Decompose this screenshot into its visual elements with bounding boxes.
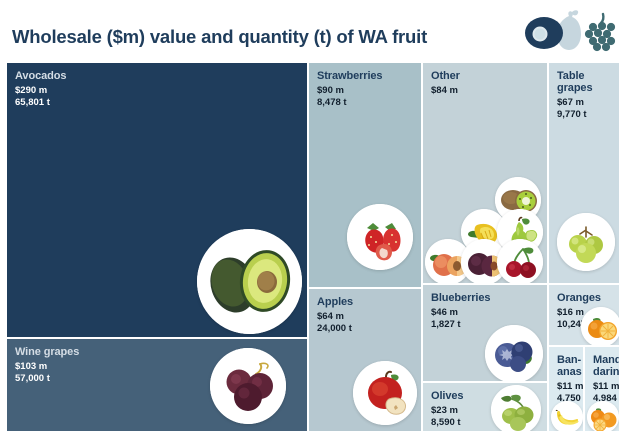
tile-label-wine-grapes: Wine grapes (15, 346, 79, 359)
tile-quantity-strawberries: 8,478 t (317, 97, 347, 109)
avocado-pear-grapes-logo (520, 8, 618, 54)
tile-label-olives: Olives (431, 390, 463, 403)
treemap-tile-other[interactable]: Other $84 m (422, 62, 548, 284)
tile-label-other: Other (431, 70, 460, 83)
cherries-photo (497, 239, 543, 284)
oranges-photo (581, 307, 620, 346)
header: Wholesale ($m) value and quantity (t) of… (0, 0, 626, 60)
treemap-tile-olives[interactable]: Olives $23 m 8,590 t (422, 382, 548, 432)
tile-label-mandarins-line2: darins (593, 366, 620, 379)
treemap-tile-blueberries[interactable]: Blueberries $46 m 1,827 t (422, 284, 548, 382)
tile-label-oranges: Oranges (557, 292, 601, 305)
treemap-tile-table-grapes[interactable]: Table grapes $67 m 9,770 t (548, 62, 620, 284)
bananas-photo (551, 401, 583, 432)
tile-label-blueberries: Blueberries (431, 292, 490, 305)
page-title: Wholesale ($m) value and quantity (t) of… (12, 26, 427, 48)
blueberries-photo (485, 325, 543, 382)
avocado-photo (197, 229, 302, 334)
tile-label-apples: Apples (317, 296, 353, 309)
tile-value-avocados: $290 m (15, 85, 47, 97)
tile-label-avocados: Avocados (15, 70, 66, 83)
tile-label-table-grapes-line2: grapes (557, 82, 592, 95)
apples-photo (353, 361, 417, 425)
infographic-page: Wholesale ($m) value and quantity (t) of… (0, 0, 626, 437)
wine-grapes-photo (210, 348, 286, 424)
treemap-tile-avocados[interactable]: Avocados $290 m 65,801 t (6, 62, 308, 338)
treemap-tile-mandarins[interactable]: Mand- darins $11 m 4,984 t (584, 346, 620, 432)
tile-quantity-olives: 8,590 t (431, 417, 461, 429)
table-grapes-photo (557, 213, 615, 271)
treemap-chart: Avocados $290 m 65,801 t Wine grapes $10 (6, 62, 620, 432)
tile-value-olives: $23 m (431, 405, 458, 417)
tile-quantity-table-grapes: 9,770 t (557, 109, 587, 121)
tile-quantity-avocados: 65,801 t (15, 97, 50, 109)
tile-value-strawberries: $90 m (317, 85, 344, 97)
treemap-tile-oranges[interactable]: Oranges $16 m 10,247 t (548, 284, 620, 346)
tile-value-wine-grapes: $103 m (15, 361, 47, 373)
tile-value-apples: $64 m (317, 311, 344, 323)
mandarins-photo (587, 401, 619, 432)
tile-value-other: $84 m (431, 85, 458, 97)
tile-value-oranges: $16 m (557, 307, 584, 319)
tile-quantity-blueberries: 1,827 t (431, 319, 461, 331)
tile-quantity-apples: 24,000 t (317, 323, 352, 335)
tile-label-mandarins-line1: Mand- (593, 354, 620, 367)
tile-value-table-grapes: $67 m (557, 97, 584, 109)
tile-value-bananas: $11 m (557, 381, 583, 393)
tile-label-bananas-line1: Ban- (557, 354, 581, 367)
tile-quantity-wine-grapes: 57,000 t (15, 373, 50, 385)
tile-label-bananas-line2: anas (557, 366, 582, 379)
strawberries-photo (347, 204, 413, 270)
treemap-tile-wine-grapes[interactable]: Wine grapes $103 m 57,000 t (6, 338, 308, 432)
tile-label-strawberries: Strawberries (317, 70, 382, 83)
treemap-tile-strawberries[interactable]: Strawberries $90 m 8,478 t (308, 62, 422, 288)
tile-label-table-grapes-line1: Table (557, 70, 584, 83)
treemap-tile-bananas[interactable]: Ban- anas $11 m 4,750 t (548, 346, 584, 432)
tile-value-mandarins: $11 m (593, 381, 619, 393)
olives-photo (491, 385, 541, 432)
treemap-tile-apples[interactable]: Apples $64 m 24,000 t (308, 288, 422, 432)
tile-value-blueberries: $46 m (431, 307, 458, 319)
